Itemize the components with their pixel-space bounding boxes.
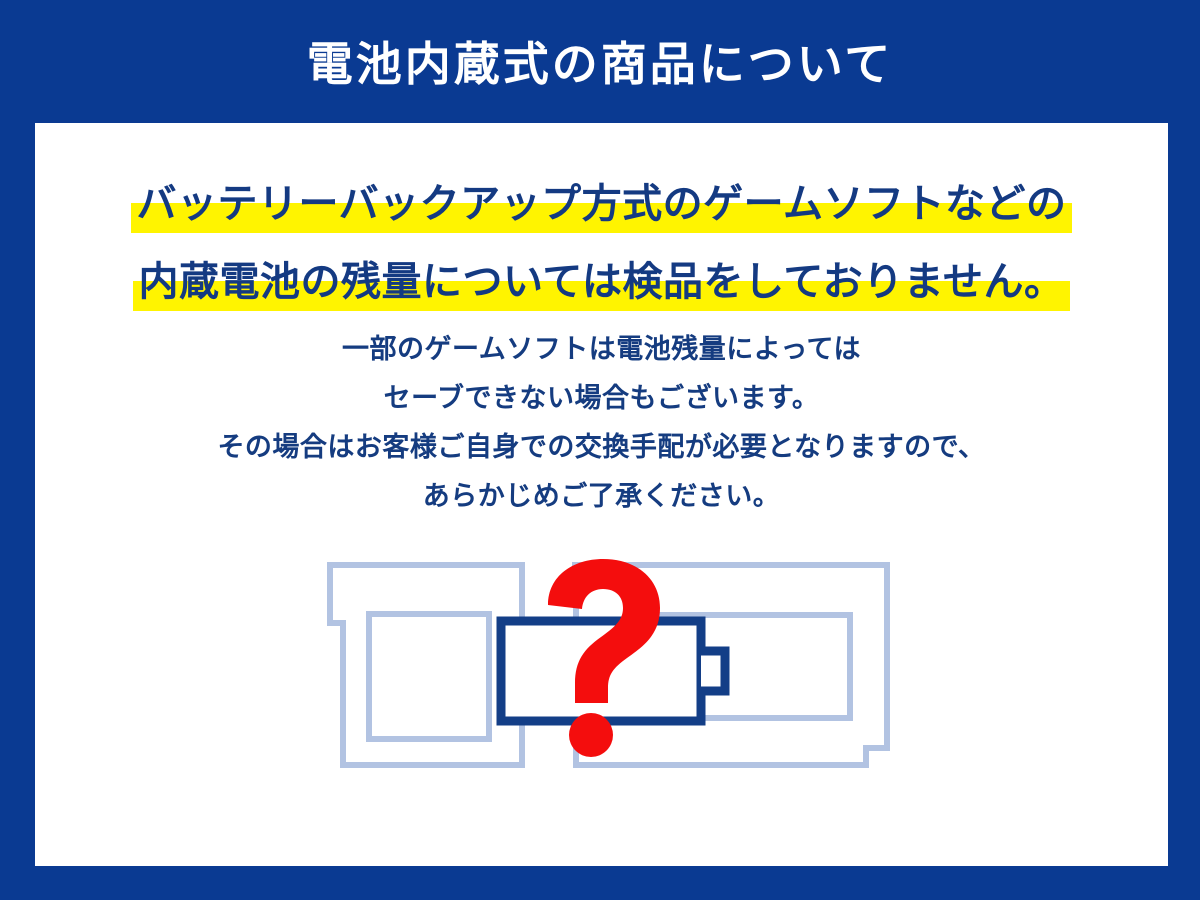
cartridge-small-body xyxy=(330,565,522,765)
body-line-2: セーブできない場合もございます。 xyxy=(35,374,1168,423)
title-banner: 電池内蔵式の商品について xyxy=(0,0,1200,123)
body-copy-block: 一部のゲームソフトは電池残量によっては セーブできない場合もございます。 その場… xyxy=(35,325,1168,521)
headline-line-2-text: 内蔵電池の残量については検品をしておりません。 xyxy=(139,260,1065,304)
headline-line-1: バッテリーバックアップ方式のゲームソフトなどの xyxy=(137,171,1067,237)
headline-block: バッテリーバックアップ方式のゲームソフトなどの 内蔵電池の残量については検品をし… xyxy=(35,171,1168,315)
headline-line-1-text: バッテリーバックアップ方式のゲームソフトなどの xyxy=(137,182,1067,226)
question-mark-dot xyxy=(569,713,613,757)
content-card: バッテリーバックアップ方式のゲームソフトなどの 内蔵電池の残量については検品をし… xyxy=(35,123,1168,866)
battery-terminal xyxy=(701,651,725,691)
headline-line-2: 内蔵電池の残量については検品をしておりません。 xyxy=(139,249,1065,315)
page-title: 電池内蔵式の商品について xyxy=(307,41,894,87)
illustration-svg xyxy=(303,548,903,788)
body-line-3: その場合はお客様ご自身での交換手配が必要となりますので、 xyxy=(35,423,1168,472)
game-cartridge-small-icon xyxy=(330,565,522,765)
body-line-1: 一部のゲームソフトは電池残量によっては xyxy=(35,325,1168,374)
cartridge-small-label xyxy=(369,614,489,739)
illustration-block xyxy=(303,548,903,788)
poster-root: 電池内蔵式の商品について バッテリーバックアップ方式のゲームソフトなどの 内蔵電… xyxy=(0,0,1200,900)
body-line-4: あらかじめご了承ください。 xyxy=(35,472,1168,521)
